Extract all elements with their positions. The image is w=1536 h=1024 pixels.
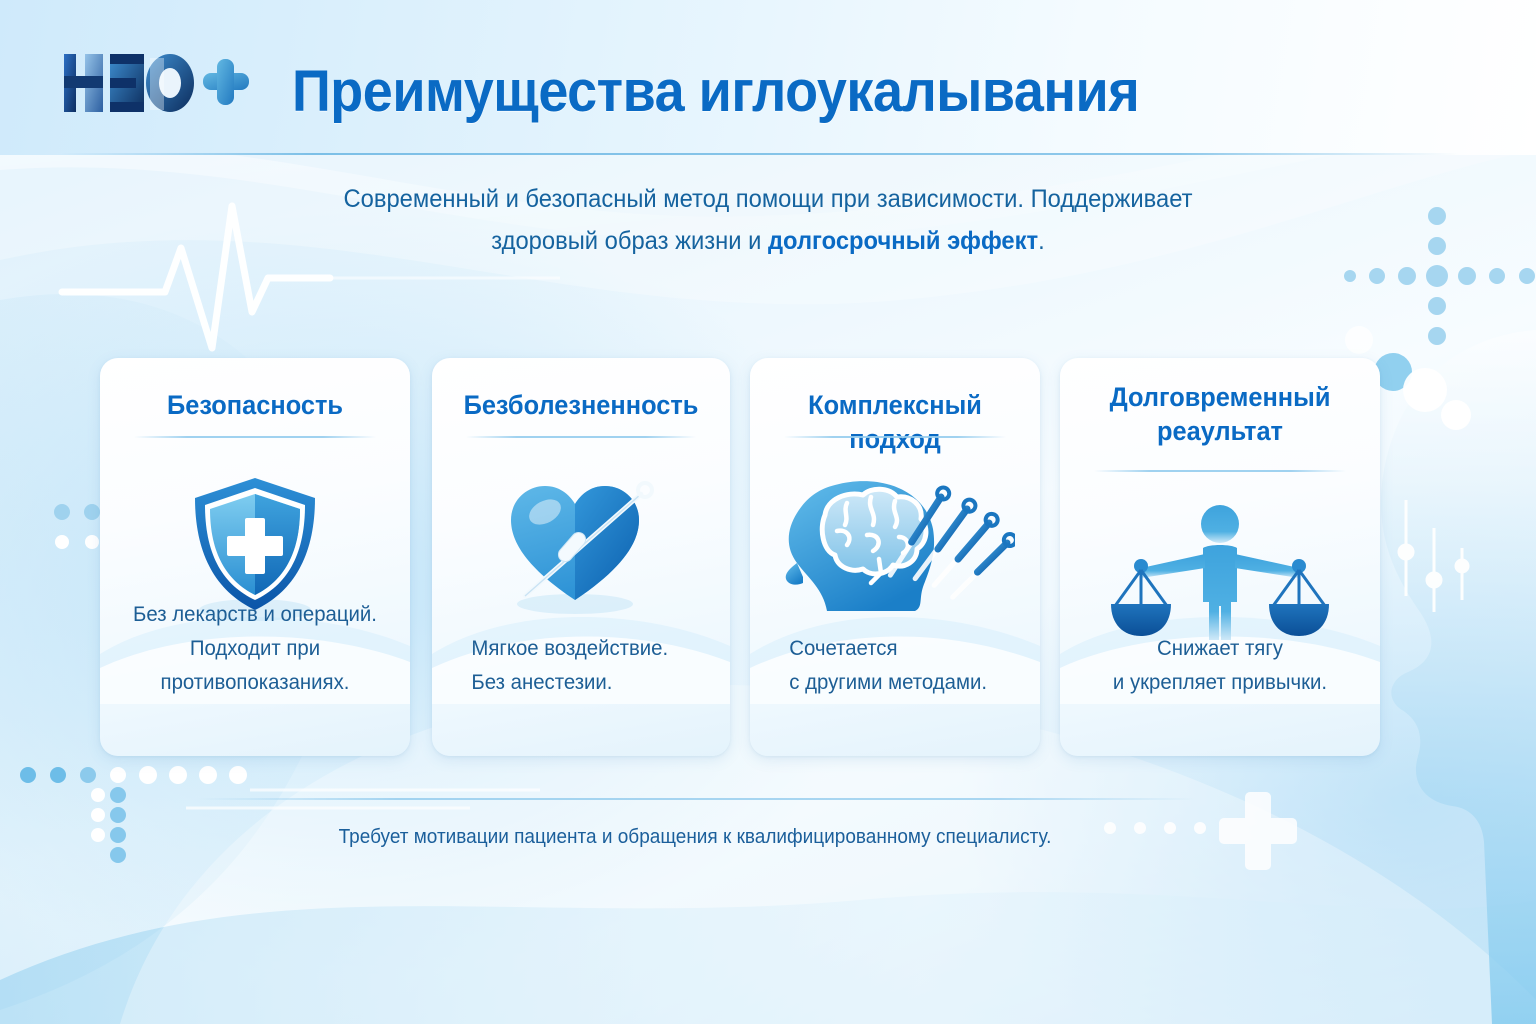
benefit-card-long-term-result[interactable]: Долговременный реаультат <box>1060 358 1380 756</box>
card-body-line: Мягкое воздействие. <box>471 637 668 660</box>
heart-needle-icon <box>497 472 665 622</box>
card-body-line: Сочетается <box>789 637 897 660</box>
card-body-line: противопоказаниях. <box>161 671 350 694</box>
benefit-card-safety[interactable]: Безопасность <box>100 358 410 756</box>
infographic-poster: Преимущества иглоукалывания Современный … <box>0 0 1536 1024</box>
card-title: Безболезненность <box>450 388 711 422</box>
card-body-line: Подходит при <box>190 637 320 660</box>
head-brain-needles-icon <box>775 467 1015 627</box>
benefit-card-complex-approach[interactable]: Комплексный подход <box>750 358 1040 756</box>
card-title-divider <box>784 436 1006 438</box>
subtitle: Современный и безопасный метод помощи пр… <box>293 178 1243 262</box>
brand-logo[interactable] <box>46 44 276 144</box>
subtitle-line-2-suffix: . <box>1038 227 1045 255</box>
footer-note: Требует мотивации пациента и обращения к… <box>35 826 1356 849</box>
card-body-line: Без лекарств и операций. <box>133 603 377 626</box>
dot-cross-decoration <box>1344 207 1535 345</box>
card-title-divider <box>1094 470 1346 472</box>
card-body-line: с другими методами. <box>789 671 987 694</box>
subtitle-line-1: Современный и безопасный метод помощи пр… <box>343 185 1192 213</box>
footer-separator <box>196 798 1196 800</box>
card-title-divider <box>134 436 376 438</box>
card-body: Снижает тягу и укрепляет привычки. <box>1086 632 1354 700</box>
ecg-line-decoration <box>62 206 330 348</box>
card-icon-slot <box>750 454 1040 639</box>
balance-scales-person-icon <box>1105 494 1335 644</box>
card-title-divider <box>466 436 696 438</box>
card-title-line-2: реаультат <box>1157 416 1283 446</box>
page-title: Преимущества иглоукалывания <box>292 58 1139 125</box>
card-body: Сочетается с другими методами. <box>776 632 1015 700</box>
card-icon-slot <box>432 454 730 639</box>
card-body-line: Снижает тягу <box>1157 637 1283 660</box>
card-title: Долговременный реаультат <box>1079 380 1361 448</box>
card-title-line-1: Долговременный <box>1110 382 1331 412</box>
card-title: Безопасность <box>119 388 392 422</box>
header-separator <box>60 153 1460 155</box>
card-body: Мягкое воздействие. Без анестезии. <box>458 632 704 700</box>
benefit-card-painless[interactable]: Безболезненность <box>432 358 730 756</box>
card-title: Комплексный подход <box>768 388 1022 456</box>
card-body-line: и укрепляет привычки. <box>1113 671 1327 694</box>
card-body: Без лекарств и операций. Подходит при пр… <box>126 598 384 700</box>
subtitle-highlight: долгосрочный эффект <box>768 227 1038 255</box>
subtitle-line-2-prefix: здоровый образ жизни и <box>491 227 768 255</box>
card-body-line: Без анестезии. <box>471 671 612 694</box>
benefit-cards-row: Безопасность <box>0 358 1536 758</box>
